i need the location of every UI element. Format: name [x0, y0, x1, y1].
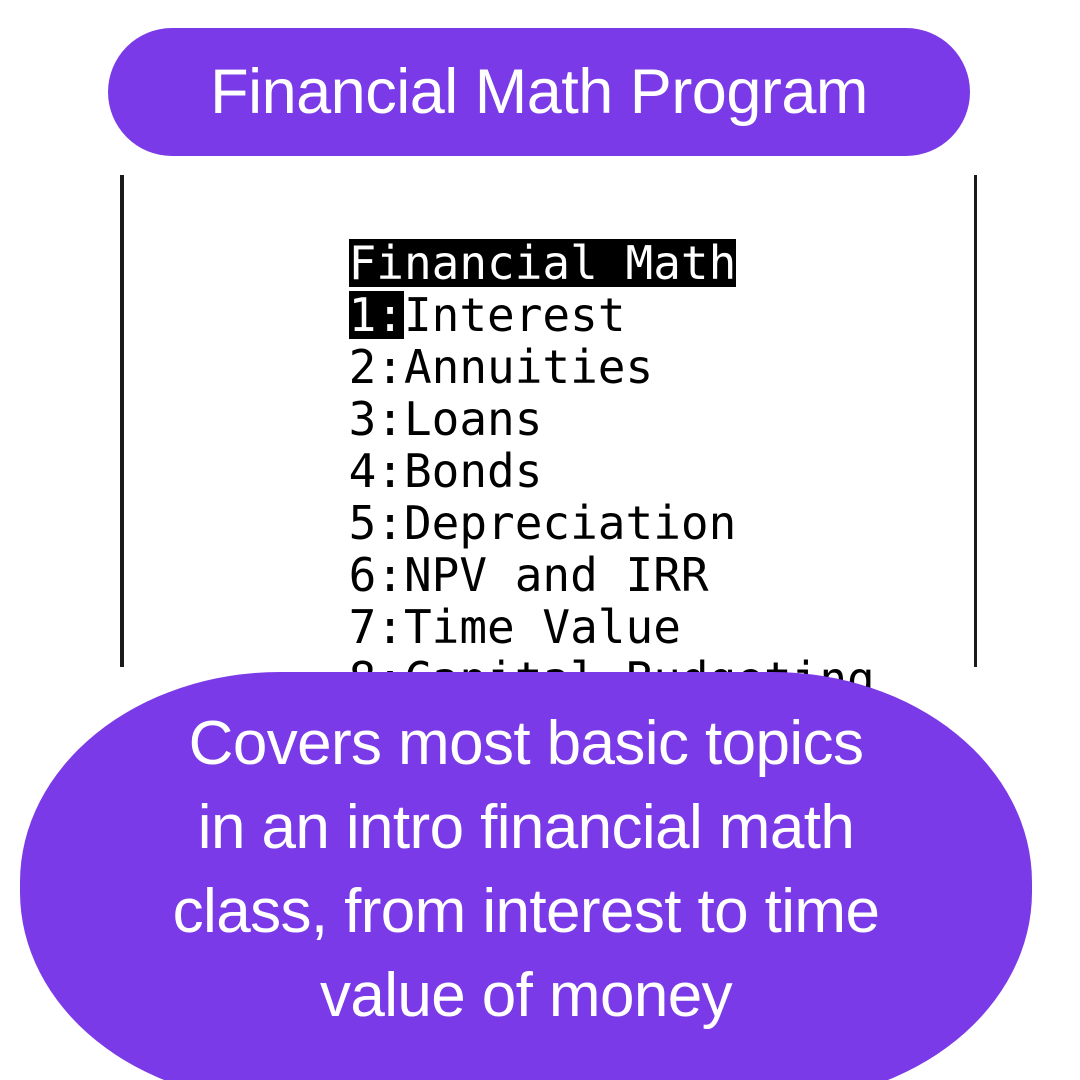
menu-item-index-selected: 1:: [349, 291, 404, 339]
bottom-banner-bubble: Covers most basic topics in an intro fin…: [20, 672, 1032, 1080]
calculator-screen: Financial Math 1:Interest 2:Annuities 3:…: [120, 175, 978, 667]
calculator-title-row: Financial Math: [127, 189, 972, 239]
menu-item-text: 4:Bonds: [349, 447, 543, 495]
bottom-banner-caption: Covers most basic topics in an intro fin…: [38, 702, 1014, 1038]
screen-left-border: [120, 175, 124, 667]
menu-item-text: 5:Depreciation: [349, 499, 737, 547]
top-banner-label: Financial Math Program: [210, 60, 868, 124]
calculator-title-text: Financial Math: [349, 239, 737, 287]
menu-item-text: 2:Annuities: [349, 343, 654, 391]
menu-item-text: 3:Loans: [349, 395, 543, 443]
calculator-menu-list: Financial Math 1:Interest 2:Annuities 3:…: [127, 189, 972, 655]
menu-item-text: 7:Time Value: [349, 603, 681, 651]
menu-item-label: Interest: [404, 291, 626, 339]
screen-right-border: [974, 175, 977, 667]
menu-item-text: 6:NPV and IRR: [349, 551, 709, 599]
screenshot-canvas: Financial Math Program Financial Math 1:…: [0, 0, 1080, 1080]
top-banner-pill: Financial Math Program: [108, 28, 970, 156]
